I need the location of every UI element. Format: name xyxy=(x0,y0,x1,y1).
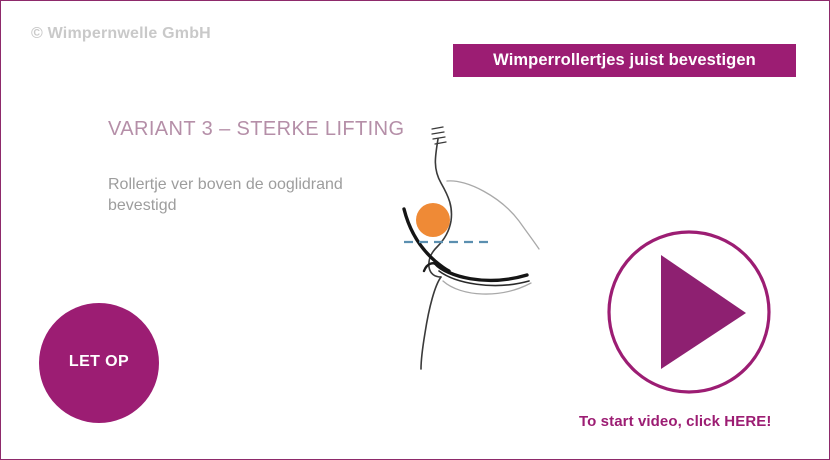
eye-contour-outline xyxy=(447,181,539,249)
let-op-badge-label: LET OP xyxy=(39,353,159,371)
header-banner-label: Wimperrollertjes juist bevestigen xyxy=(493,51,756,70)
header-banner: Wimperrollertjes juist bevestigen xyxy=(453,44,796,77)
lower-lash-line xyxy=(435,263,527,280)
variant-description: Rollertje ver boven de ooglidrand bevest… xyxy=(108,174,398,216)
variant-title: VARIANT 3 – STERKE LIFTING xyxy=(108,118,404,141)
eye-profile-illustration xyxy=(391,111,571,381)
eyebrow-hairs xyxy=(432,127,446,144)
copyright-label: © Wimpernwelle GmbH xyxy=(31,25,211,43)
play-video-button[interactable] xyxy=(606,229,772,395)
start-video-caption[interactable]: To start video, click HERE! xyxy=(579,413,771,430)
slide-root: © Wimpernwelle GmbH Wimperrollertjes jui… xyxy=(0,0,830,460)
cheek-contour-line xyxy=(421,277,441,369)
eyelash-roller-dot xyxy=(416,203,450,237)
let-op-badge: LET OP xyxy=(39,303,159,423)
